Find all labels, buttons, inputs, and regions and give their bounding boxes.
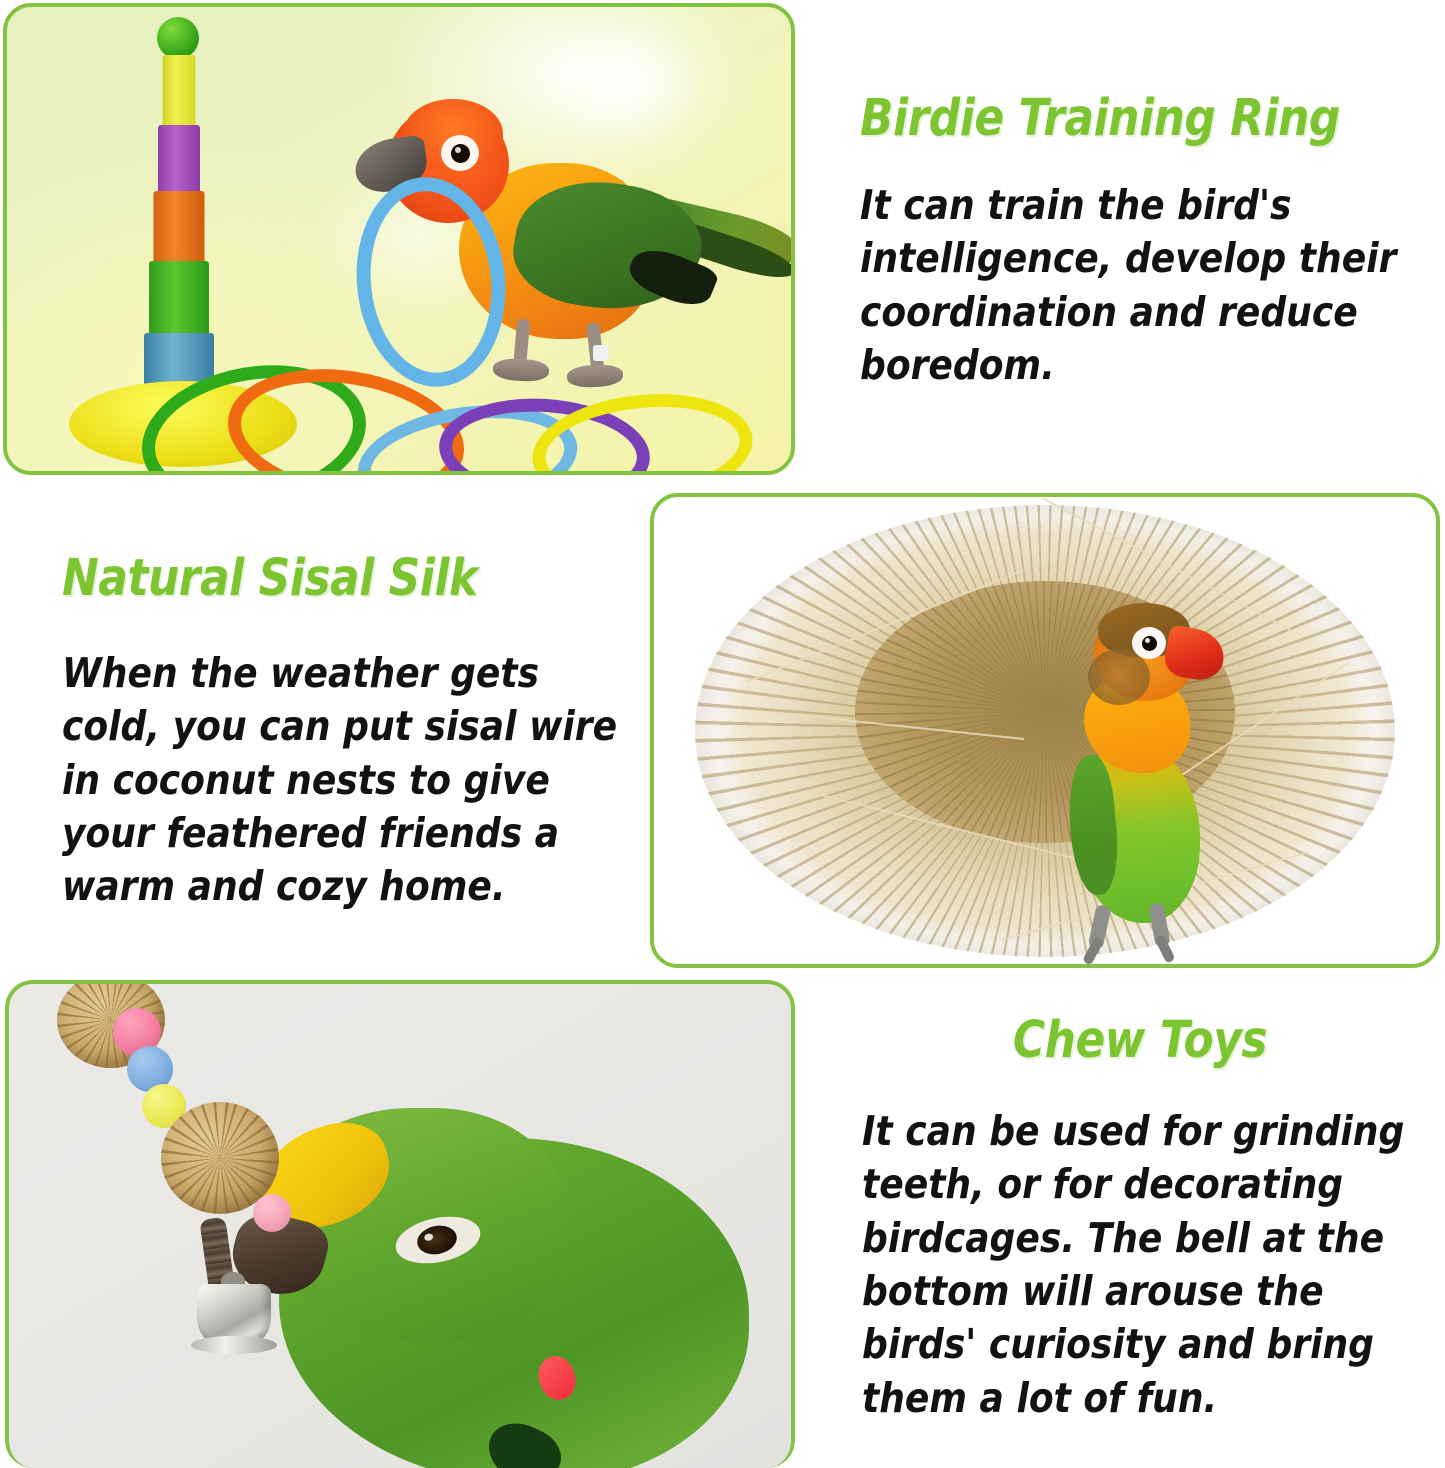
section-body: It can be used for grinding teeth, or fo… xyxy=(862,1105,1425,1425)
section-heading: Birdie Training Ring xyxy=(860,92,1410,145)
section-text-birdie-training-ring: Birdie Training Ring It can train the bi… xyxy=(860,92,1445,392)
bead-pink-small xyxy=(253,1194,291,1232)
product-photo-training-ring xyxy=(3,3,795,475)
green-parrot xyxy=(219,1104,795,1468)
bell-rim xyxy=(191,1336,277,1354)
parrot-foot xyxy=(566,364,623,389)
infographic-canvas: Birdie Training Ring It can train the bi… xyxy=(0,0,1445,1468)
lovebird-claw xyxy=(1154,934,1175,964)
stacking-cone-toy xyxy=(119,15,239,445)
product-photo-sisal-nest xyxy=(650,493,1440,968)
parrot-eye xyxy=(451,144,470,163)
section-heading: Chew Toys xyxy=(1002,1014,1277,1067)
cone-segment-yellow xyxy=(163,55,196,127)
section-text-chew-toys: Chew Toys It can be used for grinding te… xyxy=(862,1014,1445,1425)
cone-segment-orange xyxy=(154,191,205,263)
section-body: It can train the bird's intelligence, de… xyxy=(860,179,1423,392)
cone-top-ball xyxy=(157,17,199,59)
section-heading: Natural Sisal Silk xyxy=(62,552,630,605)
parrot-foot xyxy=(492,358,549,383)
fischers-lovebird xyxy=(1036,605,1236,945)
section-text-natural-sisal-silk: Natural Sisal Silk When the weather gets… xyxy=(62,552,722,914)
toss-ring-yellow xyxy=(527,384,758,475)
sun-conure-parrot xyxy=(367,87,787,387)
parrot-leg-band xyxy=(593,345,609,361)
section-body: When the weather gets cold, you can put … xyxy=(62,647,643,913)
cone-segment-green xyxy=(149,261,209,335)
lovebird-eye xyxy=(1142,636,1157,651)
cone-segment-purple xyxy=(158,125,200,193)
product-photo-chew-toy xyxy=(5,980,795,1468)
